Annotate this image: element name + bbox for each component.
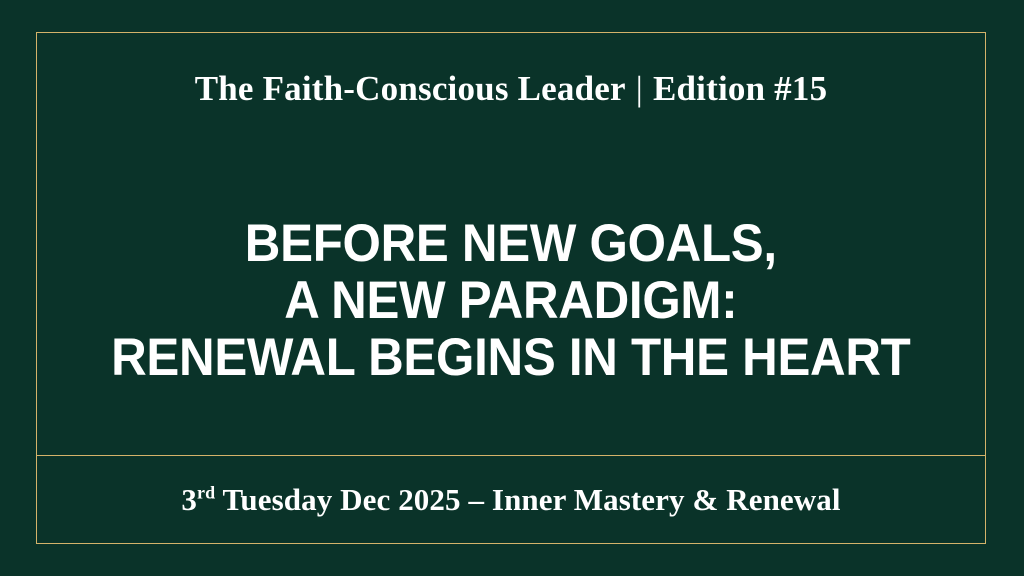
footer-schedule-text: Tuesday Dec 2025 – Inner Mastery & Renew… — [215, 482, 840, 517]
footer-schedule: 3rd Tuesday Dec 2025 – Inner Mastery & R… — [181, 482, 840, 518]
headline-text: BEFORE NEW GOALS, A NEW PARADIGM: RENEWA… — [111, 215, 910, 386]
ordinal-number: 3 — [181, 482, 197, 517]
ordinal-suffix: rd — [197, 483, 215, 503]
publication-name: The Faith-Conscious Leader — [195, 69, 626, 108]
headline-line-2: A NEW PARADIGM: — [111, 272, 910, 329]
headline-band: BEFORE NEW GOALS, A NEW PARADIGM: RENEWA… — [36, 150, 986, 450]
header-band: The Faith-Conscious Leader|Edition #15 — [36, 33, 986, 145]
newsletter-title-slide: The Faith-Conscious Leader|Edition #15 B… — [0, 0, 1024, 576]
header-separator: | — [626, 70, 653, 109]
header-title: The Faith-Conscious Leader|Edition #15 — [195, 70, 828, 109]
headline-line-1: BEFORE NEW GOALS, — [111, 215, 910, 272]
headline-line-3: RENEWAL BEGINS IN THE HEART — [111, 329, 910, 386]
edition-label: Edition #15 — [653, 69, 827, 108]
footer-band: 3rd Tuesday Dec 2025 – Inner Mastery & R… — [36, 456, 986, 544]
